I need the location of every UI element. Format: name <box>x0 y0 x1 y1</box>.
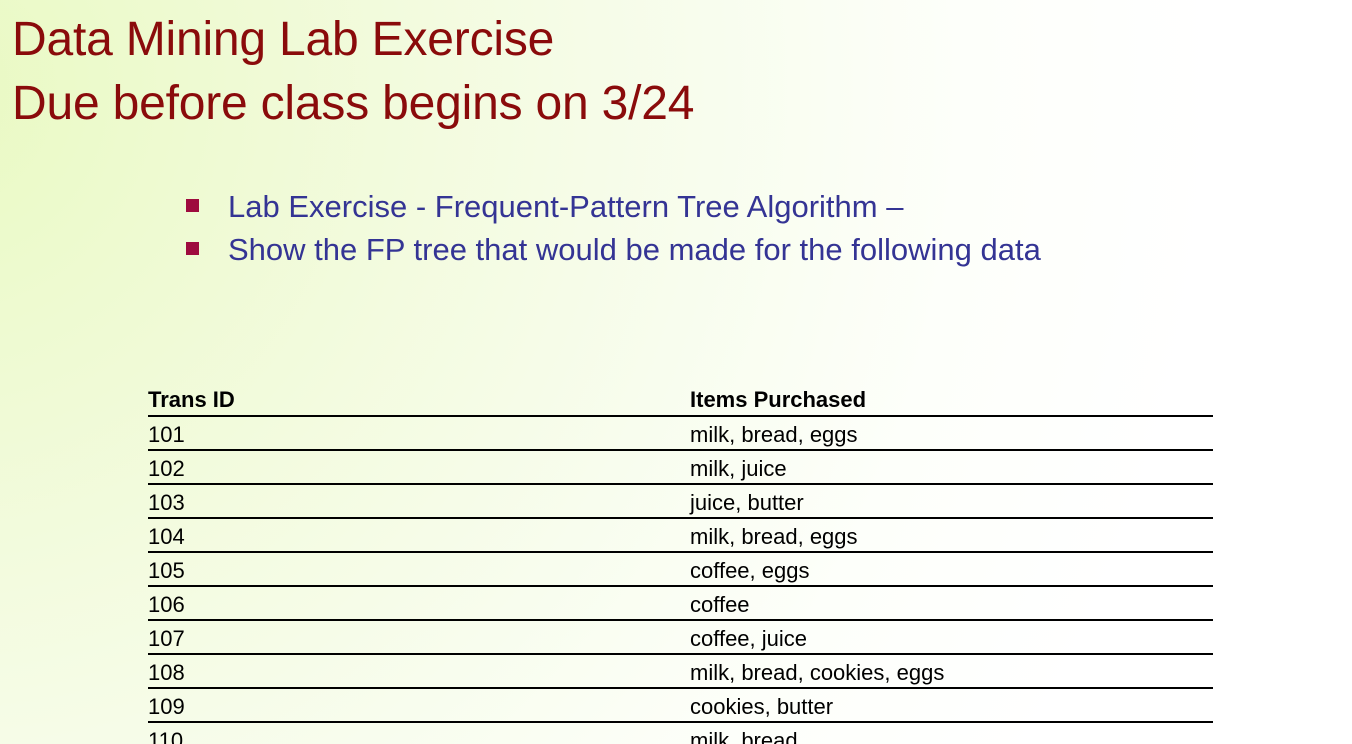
cell-items: milk, bread, eggs <box>690 416 1213 450</box>
table-row: 101 milk, bread, eggs <box>148 416 1213 450</box>
cell-items: milk, bread, cookies, eggs <box>690 654 1213 688</box>
cell-trans-id: 102 <box>148 450 690 484</box>
cell-trans-id: 106 <box>148 586 690 620</box>
transactions-table: Trans ID Items Purchased 101 milk, bread… <box>148 383 1213 744</box>
cell-trans-id: 101 <box>148 416 690 450</box>
cell-trans-id: 105 <box>148 552 690 586</box>
column-header-trans-id: Trans ID <box>148 383 690 416</box>
cell-items: milk, juice <box>690 450 1213 484</box>
table-row: 106 coffee <box>148 586 1213 620</box>
table-row: 103 juice, butter <box>148 484 1213 518</box>
page-title-line-2: Due before class begins on 3/24 <box>12 72 1312 136</box>
table-header: Trans ID Items Purchased <box>148 383 1213 416</box>
column-header-items-purchased: Items Purchased <box>690 383 1213 416</box>
cell-items: coffee <box>690 586 1213 620</box>
table-row: 109 cookies, butter <box>148 688 1213 722</box>
cell-items: milk, bread <box>690 722 1213 744</box>
bullet-list: Lab Exercise - Frequent-Pattern Tree Alg… <box>186 186 1266 272</box>
bullet-item-label-2: Show the FP tree that would be made for … <box>228 229 1266 270</box>
cell-trans-id: 107 <box>148 620 690 654</box>
cell-items: juice, butter <box>690 484 1213 518</box>
cell-trans-id: 108 <box>148 654 690 688</box>
bullet-item-label-1: Lab Exercise - Frequent-Pattern Tree Alg… <box>228 186 1266 227</box>
table-row: 105 coffee, eggs <box>148 552 1213 586</box>
table-row: 104 milk, bread, eggs <box>148 518 1213 552</box>
table-header-row: Trans ID Items Purchased <box>148 383 1213 416</box>
list-item: Lab Exercise - Frequent-Pattern Tree Alg… <box>186 186 1266 227</box>
square-bullet-icon <box>186 199 199 212</box>
cell-items: milk, bread, eggs <box>690 518 1213 552</box>
slide-canvas: Data Mining Lab Exercise Due before clas… <box>0 0 1352 744</box>
table-row: 102 milk, juice <box>148 450 1213 484</box>
table-row: 107 coffee, juice <box>148 620 1213 654</box>
cell-items: coffee, juice <box>690 620 1213 654</box>
cell-trans-id: 109 <box>148 688 690 722</box>
page-title: Data Mining Lab Exercise Due before clas… <box>12 8 1312 136</box>
table-body: 101 milk, bread, eggs 102 milk, juice 10… <box>148 416 1213 744</box>
square-bullet-icon <box>186 242 199 255</box>
cell-items: coffee, eggs <box>690 552 1213 586</box>
cell-trans-id: 110 <box>148 722 690 744</box>
cell-trans-id: 103 <box>148 484 690 518</box>
table-row: 110 milk, bread <box>148 722 1213 744</box>
cell-trans-id: 104 <box>148 518 690 552</box>
table-row: 108 milk, bread, cookies, eggs <box>148 654 1213 688</box>
list-item: Show the FP tree that would be made for … <box>186 229 1266 270</box>
cell-items: cookies, butter <box>690 688 1213 722</box>
page-title-line-1: Data Mining Lab Exercise <box>12 8 1312 72</box>
